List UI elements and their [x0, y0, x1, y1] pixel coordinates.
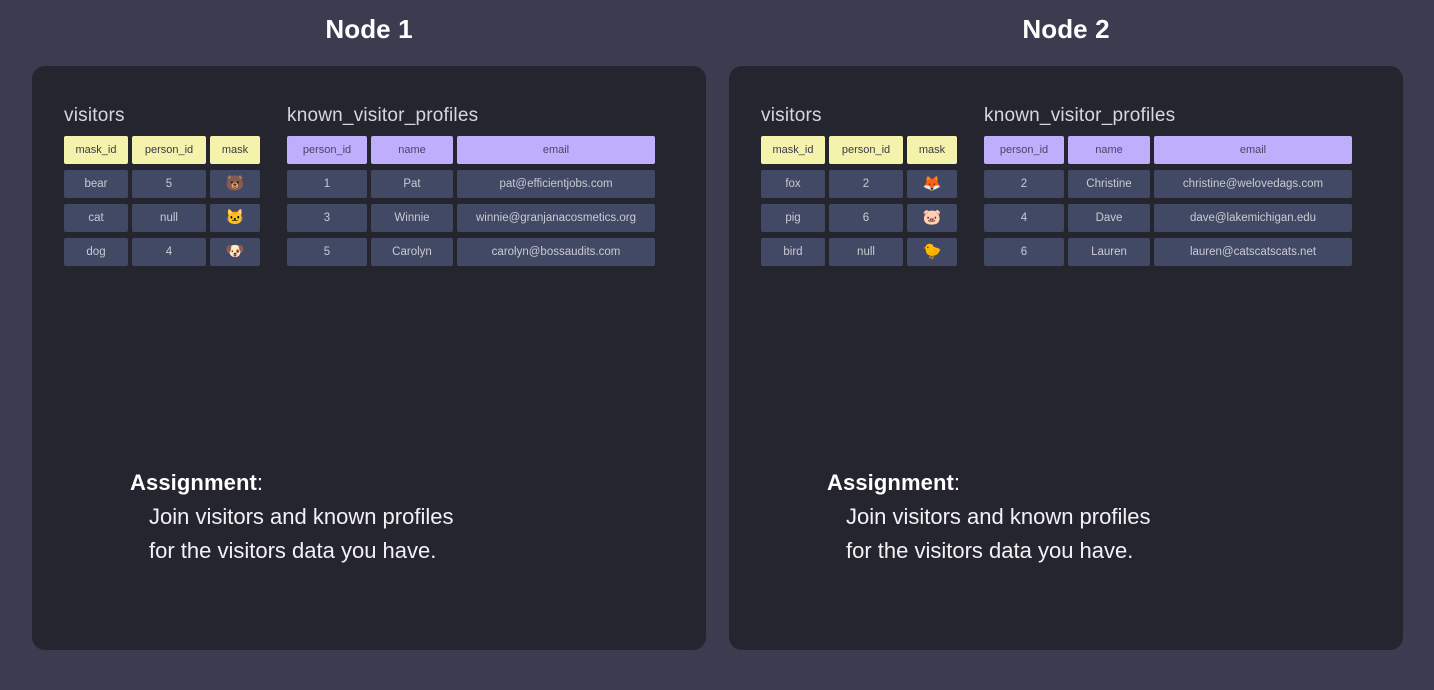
column-header-mask-id: mask_id: [761, 136, 825, 164]
node-panel-2: Node 2 visitors mask_id person_id mask f…: [729, 0, 1403, 690]
cat-face-icon: 🐱: [210, 204, 260, 232]
assignment-label: Assignment: [827, 470, 954, 495]
assignment-line-1: Join visitors and known profiles: [846, 500, 1150, 534]
assignment-text-1: Join visitors and known profiles for the…: [130, 500, 453, 568]
visitors-table-title-2: visitors: [761, 105, 957, 127]
cell-person-id: 4: [132, 238, 206, 266]
table-row: dog 4 🐶: [64, 238, 260, 266]
column-header-person-id: person_id: [984, 136, 1064, 164]
column-header-name: name: [1068, 136, 1150, 164]
table-header-row: mask_id person_id mask: [761, 136, 957, 164]
cell-person-id: 6: [829, 204, 903, 232]
cell-name: Christine: [1068, 170, 1150, 198]
tables-container-2: visitors mask_id person_id mask fox 2 🦊: [761, 105, 1383, 266]
fox-face-icon: 🦊: [907, 170, 957, 198]
cell-mask-id: pig: [761, 204, 825, 232]
assignment-block-1: Assignment: Join visitors and known prof…: [130, 470, 453, 568]
visitors-table-2: visitors mask_id person_id mask fox 2 🦊: [761, 105, 957, 266]
column-header-person-id: person_id: [132, 136, 206, 164]
cell-person-id: null: [132, 204, 206, 232]
table-row: 6 Lauren lauren@catscatscats.net: [984, 238, 1356, 266]
diagram-stage: Node 1 visitors mask_id person_id mask b…: [0, 0, 1434, 690]
column-header-mask: mask: [907, 136, 957, 164]
cell-mask-id: cat: [64, 204, 128, 232]
assignment-line-2: for the visitors data you have.: [149, 534, 453, 568]
cell-person-id: 5: [287, 238, 367, 266]
cell-person-id: 2: [829, 170, 903, 198]
node-title-1: Node 1: [32, 0, 706, 66]
column-header-name: name: [371, 136, 453, 164]
table-row: bird null 🐤: [761, 238, 957, 266]
cell-mask-id: bear: [64, 170, 128, 198]
table-header-row: person_id name email: [984, 136, 1356, 164]
table-header-row: person_id name email: [287, 136, 659, 164]
assignment-heading-1: Assignment:: [130, 470, 453, 496]
cell-mask-id: bird: [761, 238, 825, 266]
column-header-person-id: person_id: [287, 136, 367, 164]
table-row: 4 Dave dave@lakemichigan.edu: [984, 204, 1356, 232]
bear-face-icon: 🐻: [210, 170, 260, 198]
assignment-colon: :: [257, 470, 263, 495]
cell-email: pat@efficientjobs.com: [457, 170, 655, 198]
table-header-row: mask_id person_id mask: [64, 136, 260, 164]
table-row: 5 Carolyn carolyn@bossaudits.com: [287, 238, 659, 266]
column-header-mask-id: mask_id: [64, 136, 128, 164]
assignment-colon: :: [954, 470, 960, 495]
cell-email: carolyn@bossaudits.com: [457, 238, 655, 266]
table-row: 2 Christine christine@welovedags.com: [984, 170, 1356, 198]
cell-mask-id: dog: [64, 238, 128, 266]
table-row: fox 2 🦊: [761, 170, 957, 198]
node-card-1: visitors mask_id person_id mask bear 5 🐻: [32, 66, 706, 650]
cell-name: Pat: [371, 170, 453, 198]
cell-email: christine@welovedags.com: [1154, 170, 1352, 198]
column-header-person-id: person_id: [829, 136, 903, 164]
table-row: pig 6 🐷: [761, 204, 957, 232]
cell-person-id: 1: [287, 170, 367, 198]
column-header-email: email: [457, 136, 655, 164]
cell-email: lauren@catscatscats.net: [1154, 238, 1352, 266]
profiles-table-title-1: known_visitor_profiles: [287, 105, 659, 127]
visitors-table-title-1: visitors: [64, 105, 260, 127]
cell-mask-id: fox: [761, 170, 825, 198]
profiles-grid-2: person_id name email 2 Christine christi…: [984, 136, 1356, 266]
column-header-email: email: [1154, 136, 1352, 164]
profiles-grid-1: person_id name email 1 Pat pat@efficient…: [287, 136, 659, 266]
cell-name: Carolyn: [371, 238, 453, 266]
assignment-text-2: Join visitors and known profiles for the…: [827, 500, 1150, 568]
cell-person-id: null: [829, 238, 903, 266]
node-title-2: Node 2: [729, 0, 1403, 66]
assignment-heading-2: Assignment:: [827, 470, 1150, 496]
baby-chick-icon: 🐤: [907, 238, 957, 266]
cell-name: Winnie: [371, 204, 453, 232]
visitors-grid-2: mask_id person_id mask fox 2 🦊 pig 6: [761, 136, 957, 266]
cell-person-id: 3: [287, 204, 367, 232]
table-row: bear 5 🐻: [64, 170, 260, 198]
cell-person-id: 5: [132, 170, 206, 198]
cell-person-id: 2: [984, 170, 1064, 198]
known-visitor-profiles-table-1: known_visitor_profiles person_id name em…: [287, 105, 659, 266]
cell-name: Lauren: [1068, 238, 1150, 266]
known-visitor-profiles-table-2: known_visitor_profiles person_id name em…: [984, 105, 1356, 266]
visitors-grid-1: mask_id person_id mask bear 5 🐻 cat null: [64, 136, 260, 266]
assignment-label: Assignment: [130, 470, 257, 495]
table-row: 3 Winnie winnie@granjanacosmetics.org: [287, 204, 659, 232]
cell-name: Dave: [1068, 204, 1150, 232]
tables-container-1: visitors mask_id person_id mask bear 5 🐻: [64, 105, 686, 266]
pig-face-icon: 🐷: [907, 204, 957, 232]
table-row: cat null 🐱: [64, 204, 260, 232]
dog-face-icon: 🐶: [210, 238, 260, 266]
cell-person-id: 6: [984, 238, 1064, 266]
assignment-block-2: Assignment: Join visitors and known prof…: [827, 470, 1150, 568]
column-header-mask: mask: [210, 136, 260, 164]
node-panel-1: Node 1 visitors mask_id person_id mask b…: [32, 0, 706, 690]
assignment-line-2: for the visitors data you have.: [846, 534, 1150, 568]
cell-email: winnie@granjanacosmetics.org: [457, 204, 655, 232]
assignment-line-1: Join visitors and known profiles: [149, 500, 453, 534]
visitors-table-1: visitors mask_id person_id mask bear 5 🐻: [64, 105, 260, 266]
cell-email: dave@lakemichigan.edu: [1154, 204, 1352, 232]
table-row: 1 Pat pat@efficientjobs.com: [287, 170, 659, 198]
cell-person-id: 4: [984, 204, 1064, 232]
node-card-2: visitors mask_id person_id mask fox 2 🦊: [729, 66, 1403, 650]
profiles-table-title-2: known_visitor_profiles: [984, 105, 1356, 127]
